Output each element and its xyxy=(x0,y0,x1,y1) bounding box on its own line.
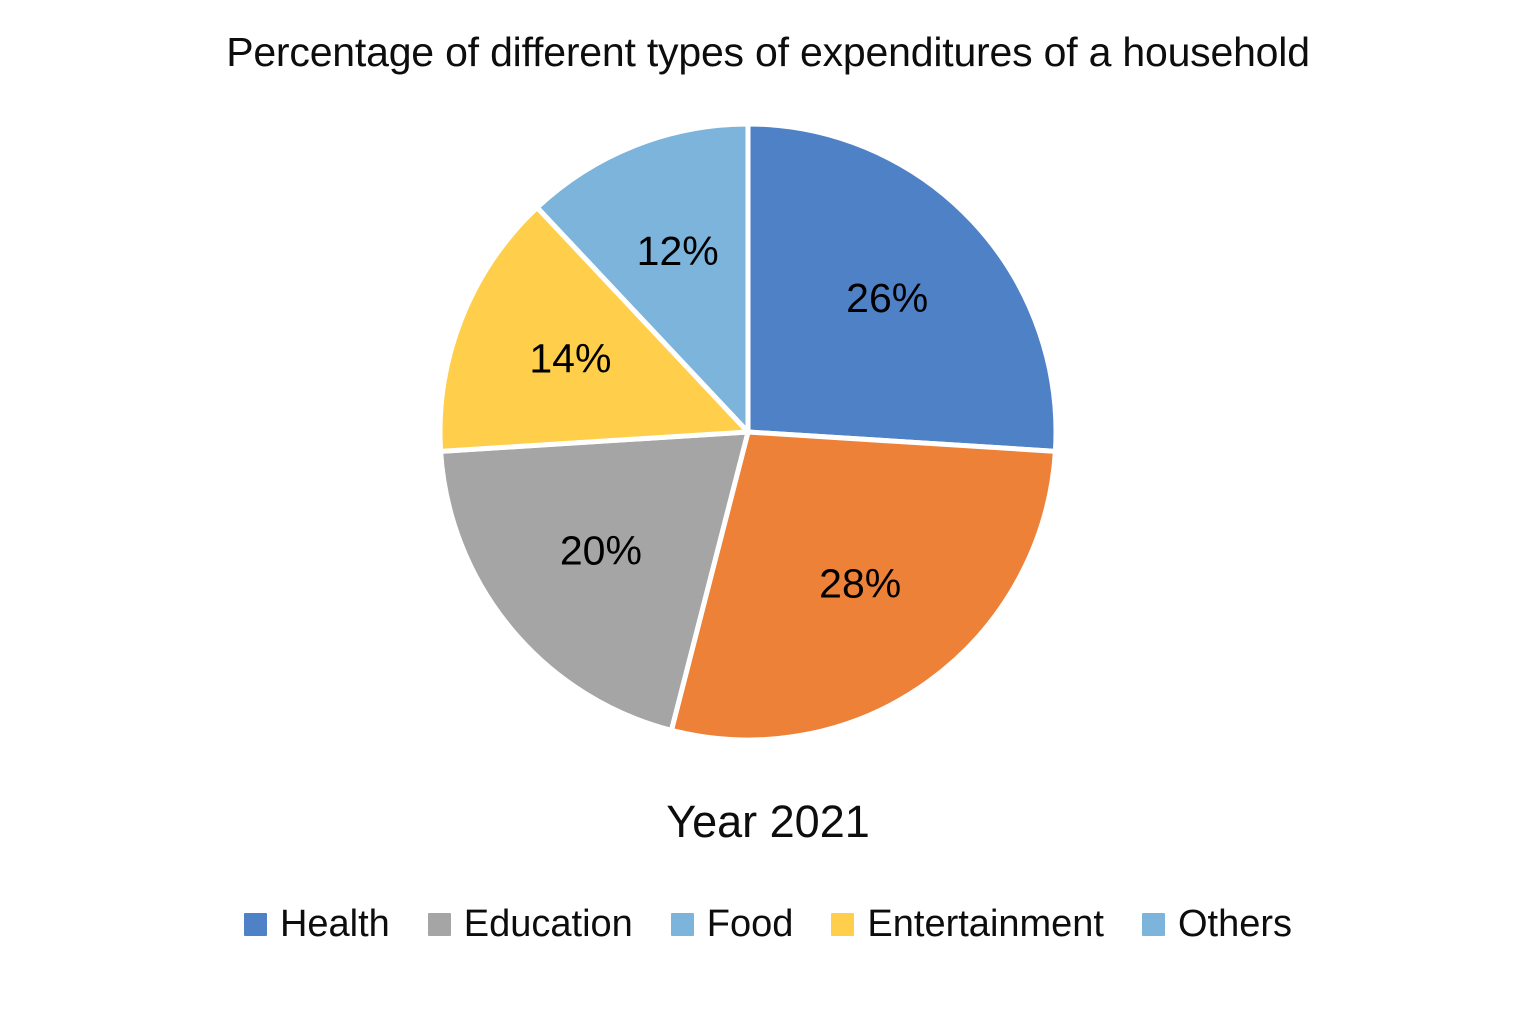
legend-swatch-icon xyxy=(244,913,267,936)
pie-chart-figure: Percentage of different types of expendi… xyxy=(0,0,1536,1024)
legend-swatch-icon xyxy=(1142,913,1165,936)
pie-slice-label-health: 26% xyxy=(846,275,928,321)
pie-slice-label-food: 28% xyxy=(819,560,901,606)
legend-swatch-icon xyxy=(428,913,451,936)
pie-svg: 26%28%20%14%12% xyxy=(0,0,1536,790)
legend-item-education[interactable]: Education xyxy=(428,902,633,946)
legend-swatch-icon xyxy=(831,913,854,936)
pie-slice-label-entertainment: 14% xyxy=(529,336,611,382)
legend-item-entertainment[interactable]: Entertainment xyxy=(831,902,1104,946)
legend-item-label: Education xyxy=(464,902,633,946)
pie-slice-label-others: 12% xyxy=(637,228,719,274)
legend-swatch-icon xyxy=(671,913,694,936)
chart-legend: HealthEducationFoodEntertainmentOthers xyxy=(0,902,1536,946)
chart-subtitle: Year 2021 xyxy=(0,794,1536,850)
legend-item-label: Others xyxy=(1178,902,1292,946)
legend-item-health[interactable]: Health xyxy=(244,902,390,946)
legend-item-label: Health xyxy=(280,902,390,946)
pie-slice-label-education: 20% xyxy=(560,528,642,574)
legend-item-food[interactable]: Food xyxy=(671,902,794,946)
legend-item-label: Entertainment xyxy=(867,902,1104,946)
pie-plot-area: 26%28%20%14%12% xyxy=(0,0,1536,790)
legend-item-label: Food xyxy=(707,902,794,946)
legend-item-others[interactable]: Others xyxy=(1142,902,1292,946)
pie-slice-group xyxy=(440,124,1056,740)
